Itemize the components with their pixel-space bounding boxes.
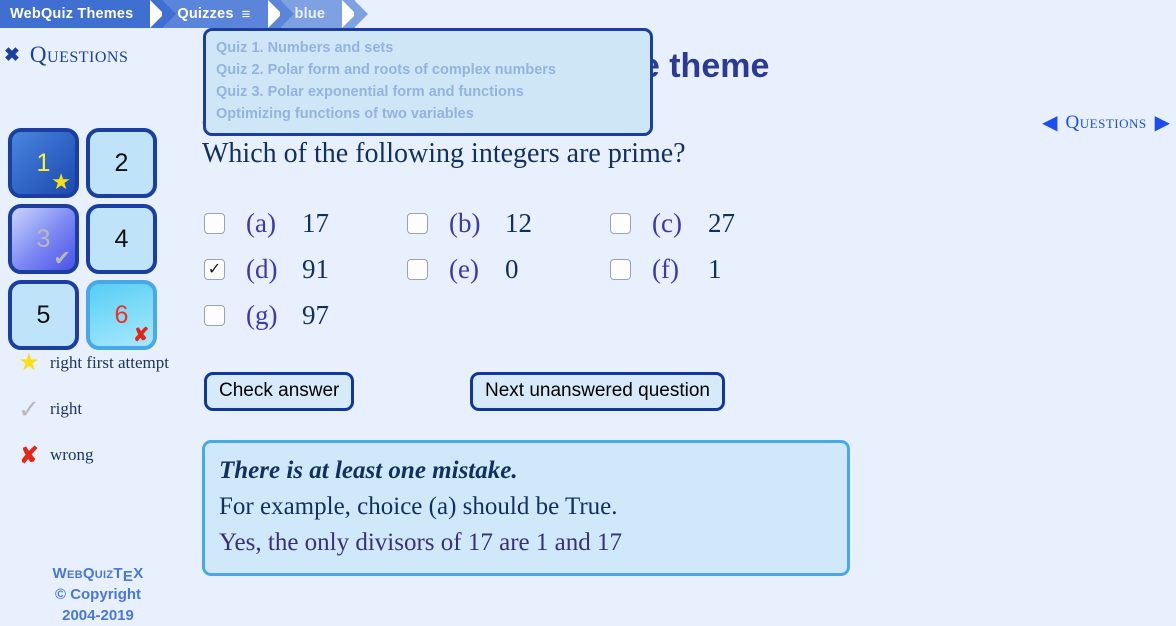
breadcrumb-item-themes[interactable]: WebQuiz Themes (0, 0, 163, 28)
breadcrumb-item-quizzes[interactable]: Quizzes ≡ (163, 0, 280, 28)
tex-x: X (133, 565, 143, 582)
star-icon: ★ (51, 171, 71, 193)
questions-panel-header: ✖ Questions (4, 40, 196, 70)
option-value: 12 (505, 208, 532, 239)
breadcrumb-label: blue (295, 6, 326, 22)
question-button-number: 5 (37, 301, 51, 330)
question-button-2[interactable]: 2 (86, 128, 157, 198)
questions-header-label: Questions (30, 42, 128, 68)
option-value: 0 (505, 254, 519, 285)
option-d[interactable]: ✓ (d) 91 (204, 254, 407, 285)
main-content: ◀ Questions ▶ Question 6 Which of the fo… (200, 100, 1176, 619)
checkbox-c[interactable] (610, 213, 631, 234)
answer-options: (a) 17 (b) 12 (c) 27 ✓ (d) 91 (e) (204, 200, 844, 338)
previous-question-icon[interactable]: ◀ (1042, 113, 1057, 133)
option-value: 17 (302, 208, 329, 239)
feedback-panel: There is at least one mistake. For examp… (202, 440, 850, 576)
option-c[interactable]: (c) 27 (610, 208, 813, 239)
check-icon: ✔ (53, 248, 71, 269)
option-letter: (c) (652, 208, 700, 239)
option-letter: (e) (449, 254, 497, 285)
option-letter: (d) (246, 254, 294, 285)
brand-name: WebQuiz (52, 565, 113, 582)
hamburger-menu-icon[interactable]: ≡ (242, 7, 251, 22)
webquiztex-logo: WebQuizTEX (0, 563, 196, 584)
question-button-number: 2 (115, 149, 129, 178)
copyright-line: © Copyright (0, 584, 196, 605)
checkbox-d[interactable]: ✓ (204, 259, 225, 280)
option-row: ✓ (d) 91 (e) 0 (f) 1 (204, 246, 844, 292)
option-letter: (f) (652, 254, 700, 285)
question-button-3[interactable]: 3 ✔ (8, 204, 79, 274)
feedback-line-2: For example, choice (a) should be True. (219, 489, 833, 525)
question-button-number: 4 (115, 225, 129, 254)
question-number-grid: 1 ★ 2 3 ✔ 4 5 6 ✘ (8, 128, 168, 350)
tex-t: T (113, 565, 122, 582)
option-value: 1 (708, 254, 722, 285)
option-row: (a) 17 (b) 12 (c) 27 (204, 200, 844, 246)
question-text: Which of the following integers are prim… (202, 138, 686, 170)
dropdown-item-optimizing[interactable]: Optimizing functions of two variables (216, 103, 640, 125)
question-button-1[interactable]: 1 ★ (8, 128, 79, 198)
option-e[interactable]: (e) 0 (407, 254, 610, 285)
question-button-number: 1 (37, 149, 51, 178)
quiz-dropdown-menu[interactable]: Quiz 1. Numbers and sets Quiz 2. Polar f… (203, 28, 653, 136)
check-answer-button[interactable]: Check answer (204, 372, 354, 411)
checkbox-g[interactable] (204, 305, 225, 326)
option-g[interactable]: (g) 97 (204, 300, 407, 331)
status-legend: ★ right first attempt ✓ right ✘ wrong (8, 340, 188, 478)
next-question-icon[interactable]: ▶ (1155, 113, 1170, 133)
legend-item-right-first-attempt: ★ right first attempt (8, 340, 188, 386)
star-icon: ★ (8, 351, 50, 375)
breadcrumb-label: WebQuiz Themes (10, 6, 133, 22)
legend-item-right: ✓ right (8, 386, 188, 432)
sidebar: ✖ Questions 1 ★ 2 3 ✔ 4 5 6 ✘ ★ right fi… (0, 40, 196, 619)
option-value: 97 (302, 300, 329, 331)
copyright-footer: WebQuizTEX © Copyright 2004-2019 (0, 563, 196, 626)
legend-label: right first attempt (50, 353, 169, 373)
option-b[interactable]: (b) 12 (407, 208, 610, 239)
legend-item-wrong: ✘ wrong (8, 432, 188, 478)
checkbox-b[interactable] (407, 213, 428, 234)
question-navigation: ◀ Questions ▶ (1042, 112, 1170, 134)
option-letter: (a) (246, 208, 294, 239)
checkbox-e[interactable] (407, 259, 428, 280)
feedback-line-1: There is at least one mistake. (219, 453, 833, 489)
next-unanswered-question-button[interactable]: Next unanswered question (470, 372, 725, 411)
question-button-4[interactable]: 4 (86, 204, 157, 274)
dropdown-item-quiz-2[interactable]: Quiz 2. Polar form and roots of complex … (216, 59, 640, 81)
copyright-years: 2004-2019 (0, 605, 196, 626)
feedback-line-3: Yes, the only divisors of 17 are 1 and 1… (219, 525, 833, 561)
question-button-number: 3 (37, 225, 51, 254)
option-f[interactable]: (f) 1 (610, 254, 813, 285)
cross-icon: ✘ (8, 444, 50, 467)
breadcrumb-arrow (280, 0, 294, 28)
option-value: 91 (302, 254, 329, 285)
dropdown-item-quiz-1[interactable]: Quiz 1. Numbers and sets (216, 37, 640, 59)
question-button-number: 6 (115, 301, 129, 330)
option-a[interactable]: (a) 17 (204, 208, 407, 239)
option-letter: (b) (449, 208, 497, 239)
dropdown-item-quiz-3[interactable]: Quiz 3. Polar exponential form and funct… (216, 81, 640, 103)
checkbox-a[interactable] (204, 213, 225, 234)
breadcrumb: WebQuiz Themes Quizzes ≡ blue (0, 0, 1176, 28)
option-value: 27 (708, 208, 735, 239)
check-icon: ✓ (8, 396, 50, 422)
option-letter: (g) (246, 300, 294, 331)
checkbox-f[interactable] (610, 259, 631, 280)
legend-label: right (50, 399, 82, 419)
tex-e: E (123, 566, 133, 587)
option-row: (g) 97 (204, 292, 844, 338)
breadcrumb-arrow (354, 0, 368, 28)
breadcrumb-label: Quizzes (177, 6, 233, 22)
close-icon[interactable]: ✖ (4, 46, 20, 65)
questions-nav-label[interactable]: Questions (1066, 112, 1147, 134)
breadcrumb-arrow (162, 0, 176, 28)
legend-label: wrong (50, 445, 93, 465)
